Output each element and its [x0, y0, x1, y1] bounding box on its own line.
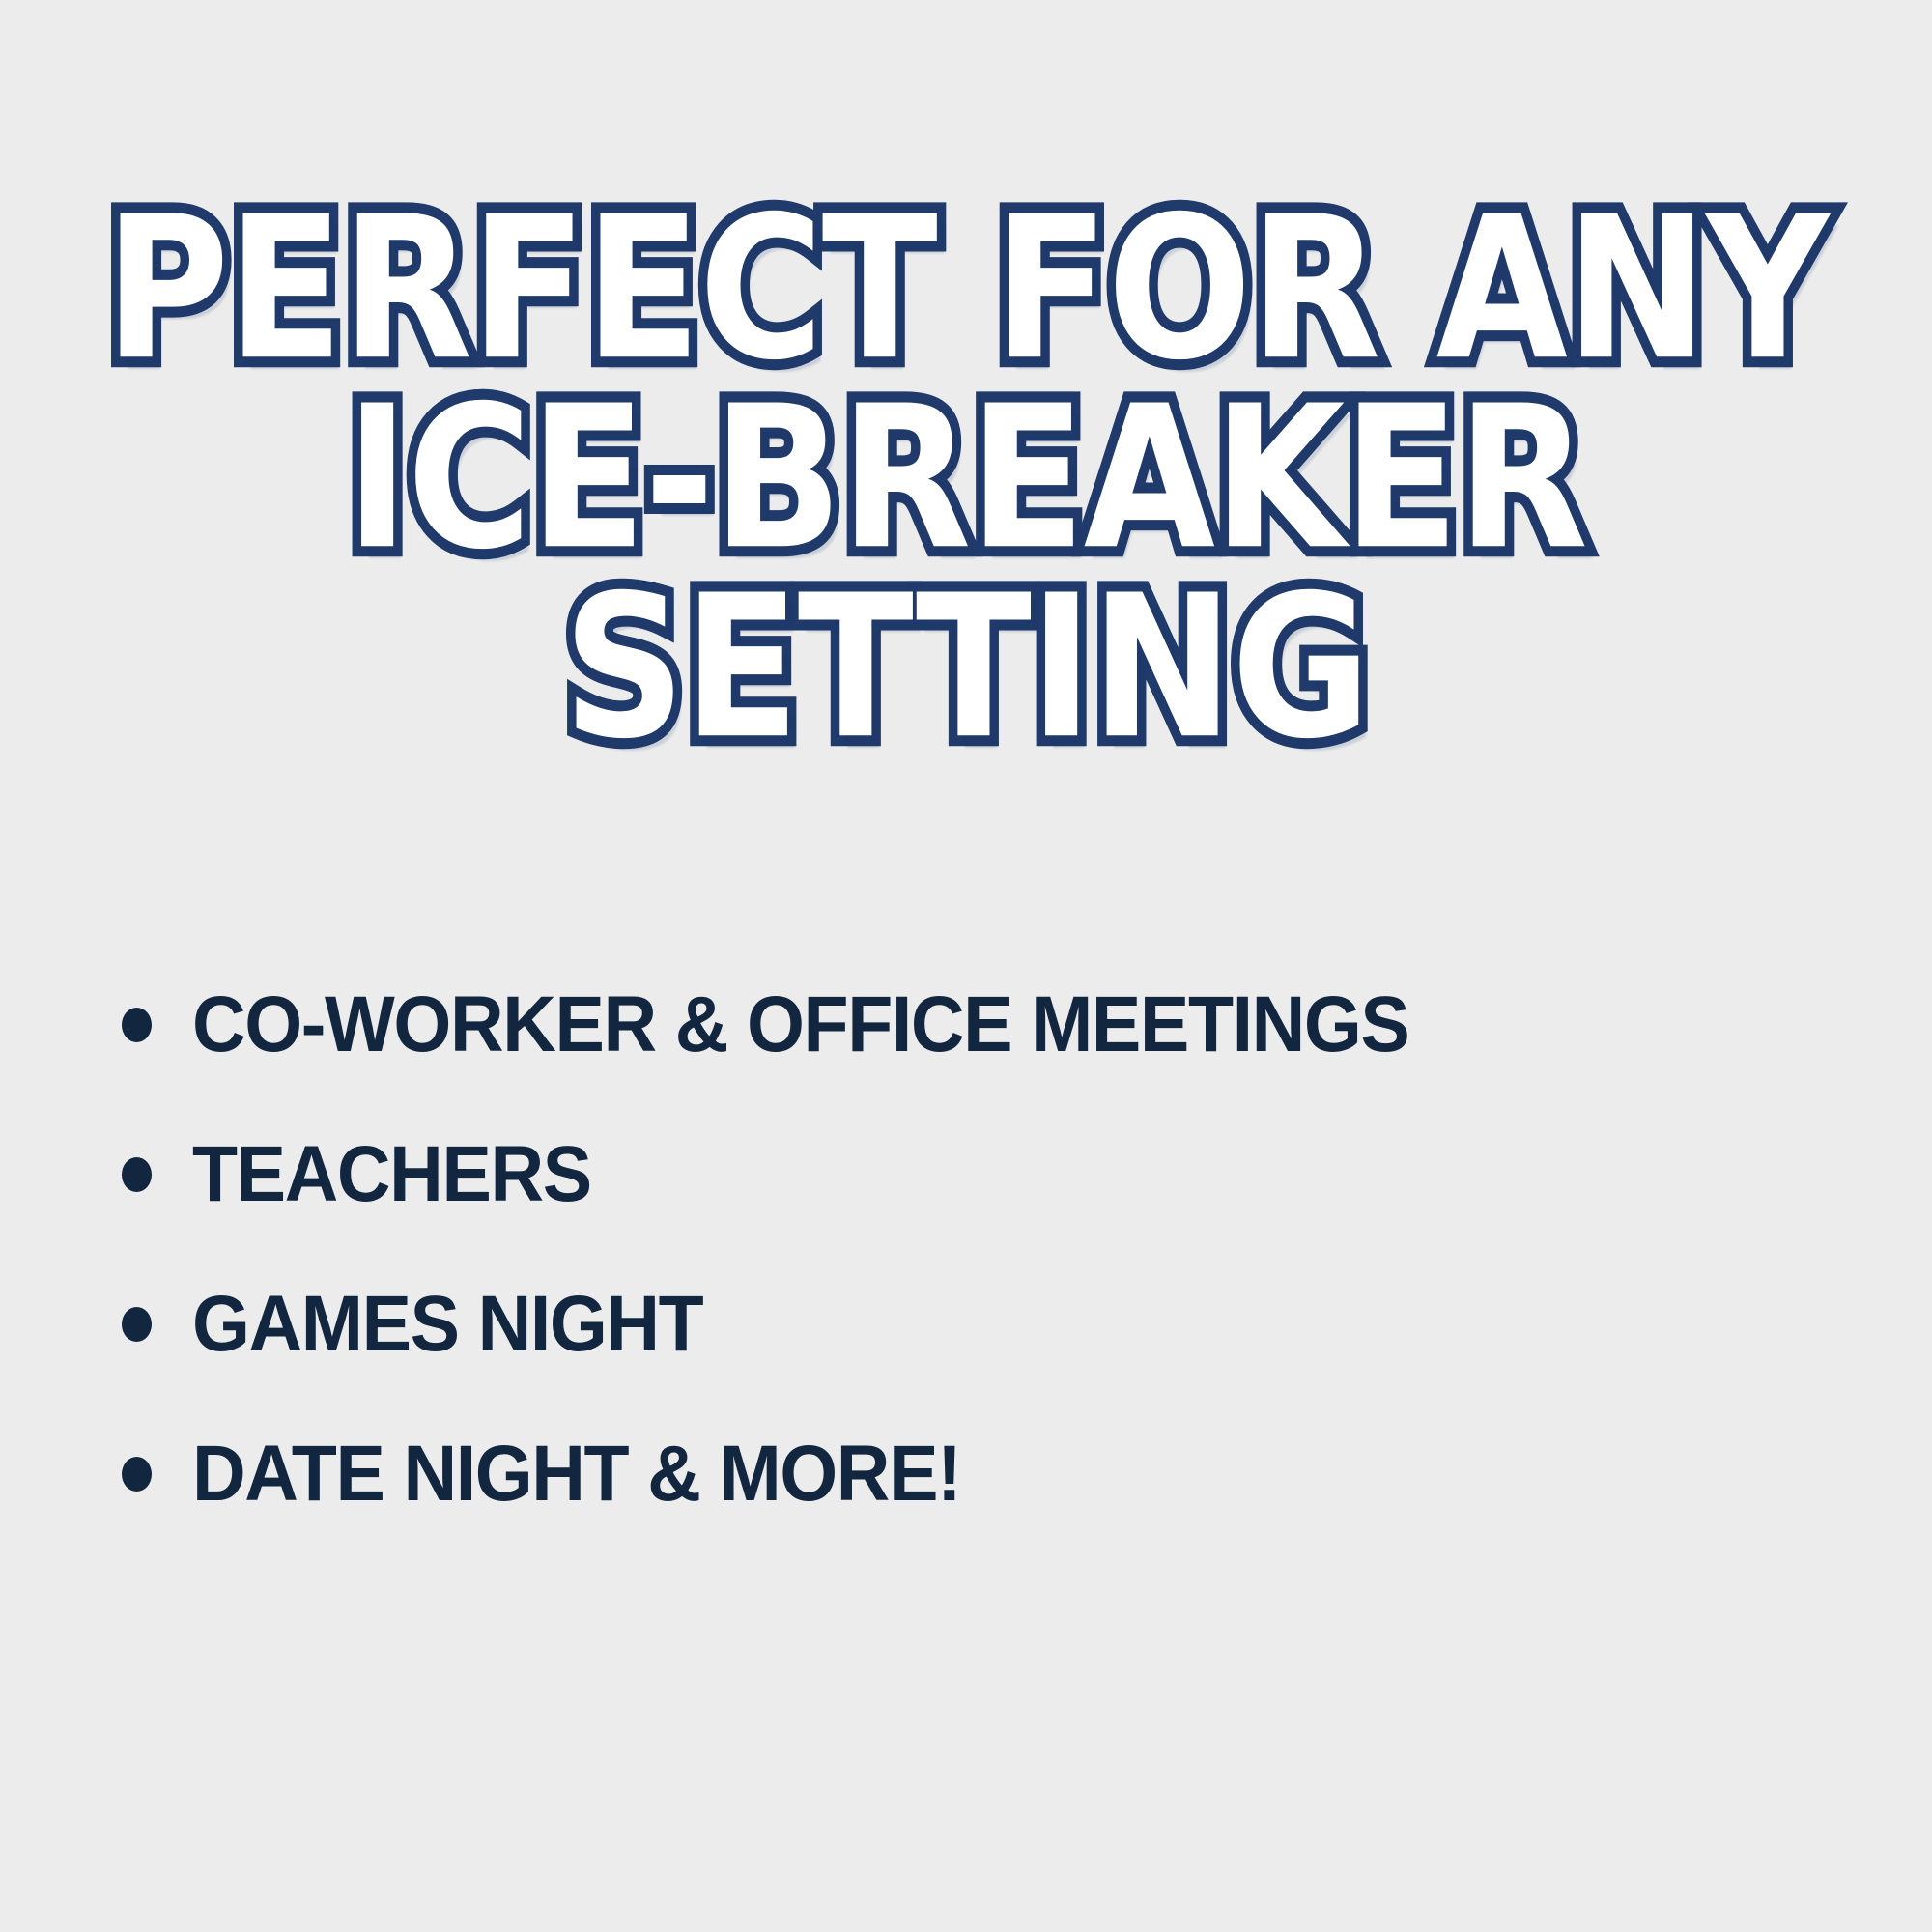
list-item: GAMES NIGHT: [122, 1271, 1861, 1378]
list-item: DATE NIGHT & MORE!: [122, 1421, 1861, 1527]
bullet-dot-icon: [122, 1457, 152, 1492]
page-title: PERFECT FOR ANY ICE-BREAKER SETTING: [0, 180, 1932, 748]
poster-canvas: PERFECT FOR ANY ICE-BREAKER SETTING CO-W…: [0, 0, 1932, 1932]
list-item-label: TEACHERS: [192, 1131, 591, 1218]
list-item-label: GAMES NIGHT: [192, 1281, 702, 1368]
list-item: TEACHERS: [122, 1122, 1861, 1228]
bullet-dot-icon: [122, 1008, 152, 1042]
bullet-dot-icon: [122, 1157, 152, 1192]
benefits-list: CO-WORKER & OFFICE MEETINGS TEACHERS GAM…: [122, 972, 1861, 1571]
list-item-label: CO-WORKER & OFFICE MEETINGS: [192, 981, 1408, 1068]
bullet-dot-icon: [122, 1307, 152, 1342]
list-item: CO-WORKER & OFFICE MEETINGS: [122, 972, 1861, 1078]
list-item-label: DATE NIGHT & MORE!: [192, 1431, 960, 1518]
headline-line-3: SETTING: [0, 558, 1932, 778]
